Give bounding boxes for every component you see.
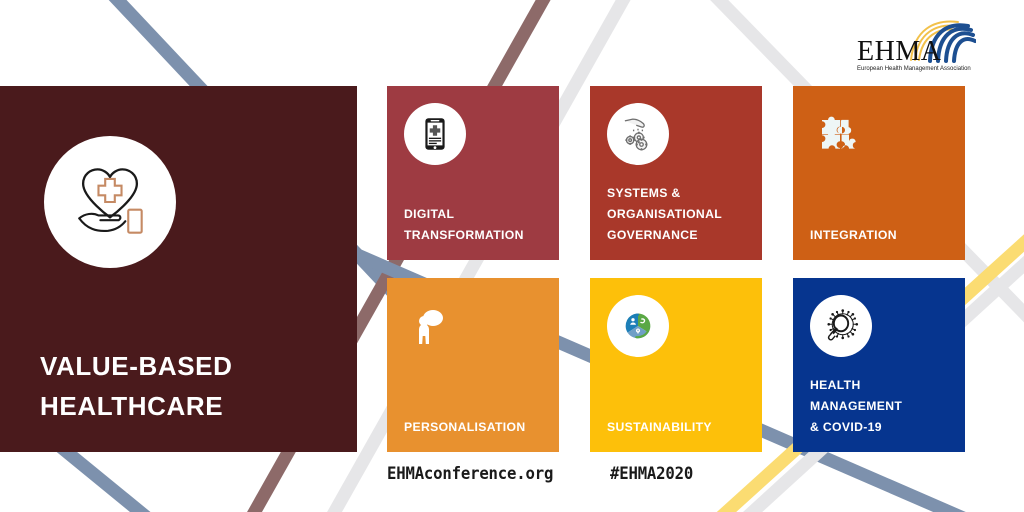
ehma-logo: EHMA European Health Management Associat… [854,14,976,76]
smartphone-medical-cross-icon [414,113,456,155]
tile-label: SUSTAINABILITY [607,417,748,438]
magnifier-virus-icon [820,305,862,347]
tile-label: DIGITAL TRANSFORMATION [404,204,545,246]
page-title: VALUE-BASED HEALTHCARE [40,346,330,427]
tile-label: SYSTEMS & ORGANISATIONAL GOVERNANCE [607,183,748,246]
hero-icon-circle [44,136,176,268]
tile-personalisation[interactable]: PERSONALISATION [387,278,559,452]
tile-label: PERSONALISATION [404,417,545,438]
tile-label: HEALTH MANAGEMENT & COVID-19 [810,375,951,438]
person-speech-bubble-icon [411,302,459,350]
smartphone-medical-cross-icon-circle [404,103,466,165]
logo-wordmark: EHMA [857,36,942,67]
tile-digital-transformation[interactable]: DIGITAL TRANSFORMATION [387,86,559,260]
conference-hashtag[interactable]: #EHMA2020 [610,464,693,484]
tile-systems-organisational-governance[interactable]: SYSTEMS & ORGANISATIONAL GOVERNANCE [590,86,762,260]
value-based-healthcare-panel: VALUE-BASED HEALTHCARE [0,86,357,452]
theme-tile-grid: DIGITAL TRANSFORMATION [387,86,965,452]
heart-cross-in-hand-icon [62,154,158,250]
recycling-pie-chart-icon-circle [607,295,669,357]
hand-placing-gears-icon-circle [607,103,669,165]
person-speech-bubble-icon-wrap [404,295,466,357]
hand-placing-gears-icon [617,113,659,155]
puzzle-pieces-icon-wrap [810,103,872,165]
tile-integration[interactable]: INTEGRATION [793,86,965,260]
puzzle-pieces-icon [817,110,865,158]
magnifier-virus-icon-circle [810,295,872,357]
poster-canvas: EHMA European Health Management Associat… [0,0,1024,512]
tile-sustainability[interactable]: SUSTAINABILITY [590,278,762,452]
tile-label: INTEGRATION [810,225,951,246]
footer: EHMAconference.org #EHMA2020 [387,464,700,484]
tile-health-management-covid19[interactable]: HEALTH MANAGEMENT & COVID-19 [793,278,965,452]
recycling-pie-chart-icon [618,306,658,346]
logo-tagline: European Health Management Association [857,66,971,72]
conference-website-link[interactable]: EHMAconference.org [387,464,553,484]
